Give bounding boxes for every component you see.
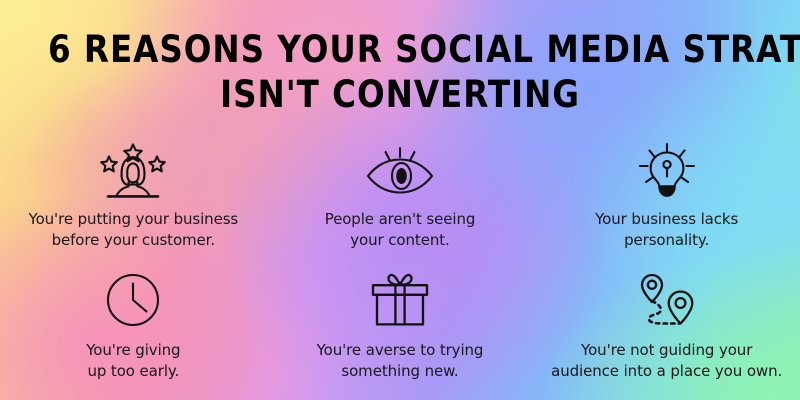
reason-text-4-line-2: up too early. xyxy=(87,362,179,380)
reason-text-3-line-2: personality. xyxy=(624,231,709,249)
reason-item-5: You're averse to trying something new. xyxy=(267,271,534,400)
reason-text-6: You're not guiding your audience into a … xyxy=(551,340,782,382)
reason-text-2: People aren't seeing your content. xyxy=(325,209,476,251)
reason-item-4: You're giving up too early. xyxy=(0,271,267,400)
reason-text-5: You're averse to trying something new. xyxy=(317,340,484,382)
reason-text-3: Your business lacks personality. xyxy=(595,209,738,251)
reason-text-4-line-1: You're giving xyxy=(86,341,180,359)
reason-item-1: You're putting your business before your… xyxy=(0,142,267,271)
reason-text-6-line-2: audience into a place you own. xyxy=(551,362,782,380)
reason-text-1: You're putting your business before your… xyxy=(29,209,239,251)
reason-text-1-line-1: You're putting your business xyxy=(29,210,239,228)
page-title-line-2: Isn't Converting xyxy=(48,72,752,117)
reason-text-5-line-1: You're averse to trying xyxy=(317,341,484,359)
infographic-canvas: 6 Reasons Your Social Media Strategy Isn… xyxy=(0,0,800,400)
reason-text-4: You're giving up too early. xyxy=(86,340,180,382)
lightbulb-icon xyxy=(632,142,702,200)
eye-icon xyxy=(362,142,438,200)
reason-item-3: Your business lacks personality. xyxy=(533,142,800,271)
reason-text-3-line-1: Your business lacks xyxy=(595,210,738,228)
reason-text-2-line-1: People aren't seeing xyxy=(325,210,476,228)
reason-item-6: You're not guiding your audience into a … xyxy=(533,271,800,400)
reason-text-1-line-2: before your customer. xyxy=(52,231,215,249)
person-with-stars-icon xyxy=(85,142,181,200)
gift-box-icon xyxy=(367,271,433,329)
clock-icon xyxy=(105,271,161,329)
reasons-grid: You're putting your business before your… xyxy=(0,142,800,400)
reason-text-5-line-2: something new. xyxy=(341,362,458,380)
page-title-line-1: 6 Reasons Your Social Media Strategy xyxy=(48,27,752,72)
reason-text-2-line-2: your content. xyxy=(350,231,449,249)
reason-text-6-line-1: You're not guiding your xyxy=(581,341,752,359)
reason-item-2: People aren't seeing your content. xyxy=(267,142,534,271)
map-pins-route-icon xyxy=(632,271,702,329)
page-title: 6 Reasons Your Social Media Strategy Isn… xyxy=(0,27,800,117)
